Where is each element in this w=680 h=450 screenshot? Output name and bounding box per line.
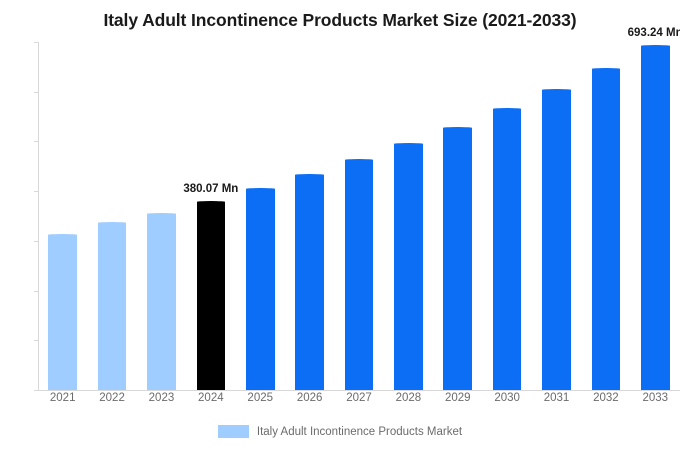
x-axis-tick-label: 2030	[482, 392, 531, 404]
bar[interactable]	[147, 213, 176, 390]
page-title: Italy Adult Incontinence Products Market…	[0, 10, 680, 31]
x-axis-tick-label: 2025	[236, 392, 285, 404]
x-axis-line	[38, 390, 680, 391]
bar-value-label: 693.24 Mn	[628, 27, 680, 39]
bar-group	[295, 42, 324, 390]
bar[interactable]	[295, 174, 324, 390]
legend: Italy Adult Incontinence Products Market	[0, 425, 680, 438]
bar[interactable]	[48, 234, 77, 390]
x-axis-tick-label: 2029	[433, 392, 482, 404]
bar[interactable]: 693.24 Mn	[641, 45, 670, 390]
x-axis-ticks: 2021202220232024202520262027202820292030…	[38, 392, 680, 412]
x-axis-tick-label: 2026	[285, 392, 334, 404]
bar-group	[443, 42, 472, 390]
bar[interactable]	[493, 108, 522, 390]
bar-group	[98, 42, 127, 390]
x-axis-tick-label: 2033	[631, 392, 680, 404]
bar[interactable]	[592, 68, 621, 390]
bar-group	[592, 42, 621, 390]
bars-layer: 380.07 Mn693.24 Mn	[38, 42, 680, 390]
bar[interactable]	[98, 222, 127, 390]
bar[interactable]	[246, 188, 275, 390]
y-axis-tick-mark	[34, 390, 38, 391]
bar[interactable]: 380.07 Mn	[197, 201, 226, 390]
bar-group	[394, 42, 423, 390]
legend-swatch-icon	[218, 425, 249, 438]
x-axis-tick-label: 2031	[532, 392, 581, 404]
bar-group	[345, 42, 374, 390]
x-axis-tick-label: 2024	[186, 392, 235, 404]
bar[interactable]	[542, 89, 571, 390]
plot-area: 0100200300400500600700 380.07 Mn693.24 M…	[38, 42, 680, 390]
bar[interactable]	[394, 143, 423, 390]
bar[interactable]	[443, 127, 472, 390]
x-axis-tick-label: 2027	[334, 392, 383, 404]
legend-item-label: Italy Adult Incontinence Products Market	[257, 426, 462, 438]
bar-group	[542, 42, 571, 390]
bar-chart: Italy Adult Incontinence Products Market…	[0, 0, 680, 450]
x-axis-tick-label: 2032	[581, 392, 630, 404]
x-axis-tick-label: 2022	[87, 392, 136, 404]
bar-group	[246, 42, 275, 390]
bar-group	[493, 42, 522, 390]
x-axis-tick-label: 2028	[384, 392, 433, 404]
bar-group	[48, 42, 77, 390]
bar-group: 693.24 Mn	[641, 42, 670, 390]
x-axis-tick-label: 2023	[137, 392, 186, 404]
bar-group	[147, 42, 176, 390]
bar[interactable]	[345, 159, 374, 390]
x-axis-tick-label: 2021	[38, 392, 87, 404]
bar-value-label: 380.07 Mn	[183, 183, 238, 195]
bar-group: 380.07 Mn	[197, 42, 226, 390]
